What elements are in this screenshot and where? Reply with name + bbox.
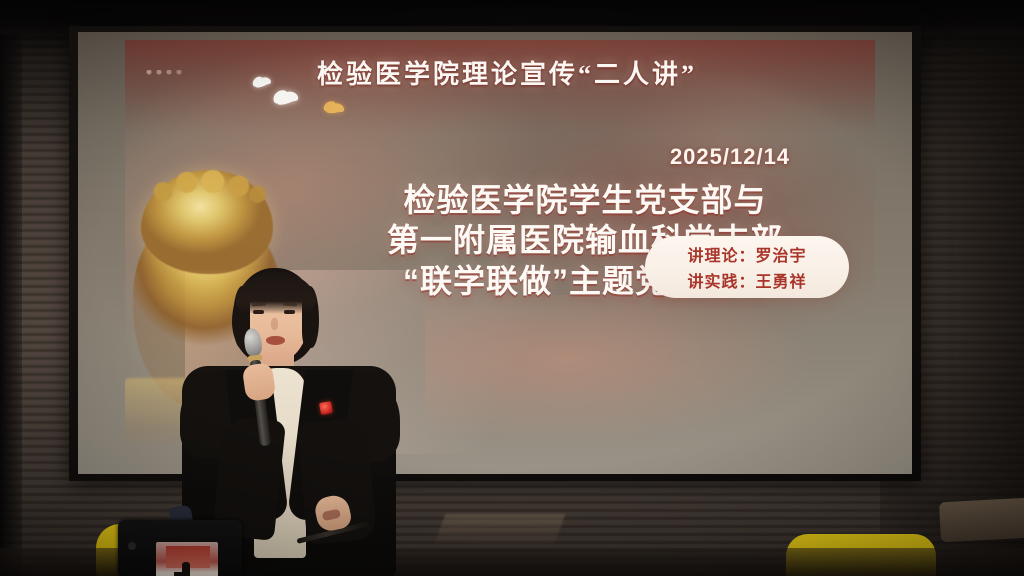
- presenter-eye-right: [284, 310, 295, 314]
- gold-dove-icon: [321, 101, 347, 117]
- phone-screen-preview: [156, 542, 218, 576]
- wall-shadow-left: [0, 0, 22, 576]
- party-emblem-pin-icon: [319, 401, 333, 415]
- speaker-theory: 讲理论：罗治宇: [687, 242, 806, 266]
- presenter-mouth: [266, 336, 285, 345]
- presenter-nose: [271, 318, 278, 330]
- phone-camera-icon: [128, 542, 136, 550]
- slide-date: 2025/12/14: [605, 144, 855, 170]
- white-dove-icon: [271, 90, 302, 108]
- presenter-eye-left: [253, 310, 264, 314]
- photo-scene: 检验医学院理论宣传“二人讲” 2025/12/14 检验医学院学生党支部与 第一…: [0, 0, 1024, 576]
- slide-silk-wave-d: [425, 295, 875, 454]
- statue-mane: [149, 164, 267, 210]
- speaker-practice: 讲实践：王勇祥: [687, 268, 806, 292]
- stage-edge: [435, 514, 566, 544]
- phone-body: [118, 520, 242, 576]
- presenter-hand-holding-mic: [242, 362, 277, 402]
- smartphone-on-tripod: [118, 506, 248, 576]
- speaker-credits-badge: 讲理论：罗治宇 讲实践：王勇祥: [645, 236, 849, 298]
- slide-banner-title: 检验医学院理论宣传“二人讲”: [167, 54, 847, 91]
- microphone-head: [243, 327, 263, 357]
- tripod-mount: [174, 572, 184, 576]
- slide-heading-line-1: 检验医学院学生党支部与: [305, 180, 865, 220]
- side-table: [939, 498, 1024, 543]
